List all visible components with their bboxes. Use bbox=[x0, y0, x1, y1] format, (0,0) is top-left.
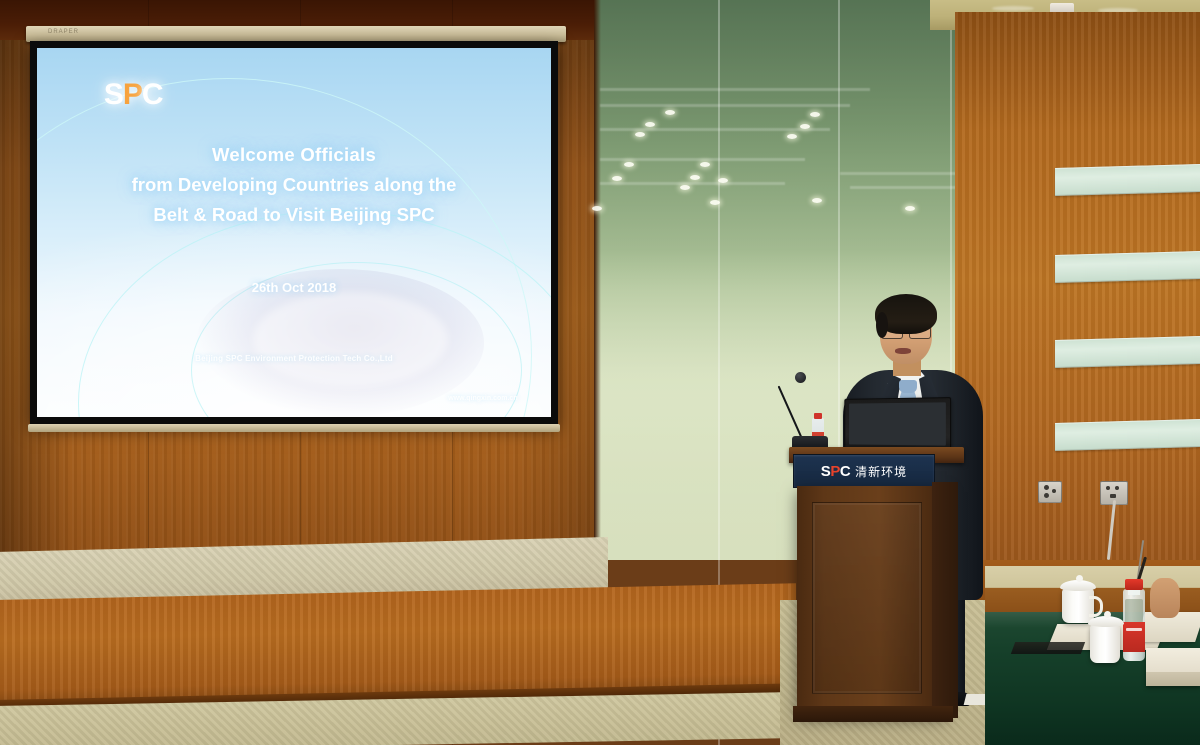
nameplate-spc-logo: SPC bbox=[821, 463, 850, 480]
ceiling-light-reflection bbox=[787, 134, 797, 139]
conference-room-photo: DRAPER SPC Welcome Officials from Develo… bbox=[0, 0, 1200, 745]
ceiling-light-reflection bbox=[635, 132, 645, 137]
slide-spc-logo: SPC bbox=[104, 78, 163, 112]
teacup-front bbox=[1090, 625, 1120, 663]
glass-edge-shadow bbox=[594, 0, 601, 560]
slide-date: 26th Oct 2018 bbox=[37, 280, 551, 295]
podium-base bbox=[793, 706, 953, 722]
ceiling-reflection bbox=[600, 128, 830, 131]
logo-letter-p: P bbox=[123, 78, 142, 111]
name-card-fold bbox=[1146, 672, 1200, 686]
wall-glass-panel bbox=[1055, 164, 1200, 196]
projector-screen-weight-bar bbox=[28, 424, 560, 432]
podium-front-panel bbox=[812, 502, 922, 694]
ceiling-light-reflection bbox=[800, 124, 810, 129]
projection-screen: SPC Welcome Officials from Developing Co… bbox=[30, 41, 558, 424]
wall-glass-panel bbox=[1055, 336, 1200, 368]
ceiling-reflection bbox=[600, 104, 850, 107]
slide-title: Welcome Officials from Developing Countr… bbox=[37, 140, 551, 230]
power-outlet-left[interactable] bbox=[1038, 481, 1062, 503]
nameplate-letter-s: S bbox=[821, 463, 831, 480]
ceiling-light-reflection bbox=[700, 162, 710, 167]
ceiling-light-reflection bbox=[645, 122, 655, 127]
podium-nameplate: SPC 清新环境 bbox=[793, 454, 935, 488]
slide-title-line-1: Welcome Officials bbox=[37, 140, 551, 170]
slide-website-url: www.qingxin.com.cn bbox=[448, 395, 517, 402]
speaker-hair bbox=[875, 294, 937, 334]
ceiling-light-reflection bbox=[710, 200, 720, 205]
ceiling-light-reflection bbox=[905, 206, 915, 211]
wall-glass-panel bbox=[1055, 251, 1200, 283]
ceiling-reflection bbox=[600, 182, 785, 185]
table-dark-object bbox=[1011, 642, 1085, 654]
projector-screen-casing[interactable]: DRAPER bbox=[26, 26, 566, 42]
ceiling-light-reflection bbox=[624, 162, 634, 167]
ceiling-light-reflection bbox=[810, 112, 820, 117]
presentation-slide: SPC Welcome Officials from Developing Co… bbox=[37, 48, 551, 417]
teacup-lid-knob bbox=[1104, 611, 1111, 618]
speaker-mouth bbox=[895, 348, 911, 354]
teacup-lid-knob bbox=[1076, 575, 1083, 582]
teacup-back bbox=[1062, 589, 1094, 623]
microphone-icon bbox=[795, 372, 806, 383]
nameplate-letter-c: C bbox=[840, 463, 850, 480]
logo-letter-s: S bbox=[104, 78, 123, 111]
bottle-cap bbox=[1125, 579, 1143, 590]
ceiling-reflection bbox=[850, 186, 960, 189]
bottle-label bbox=[1123, 622, 1145, 652]
ceiling-light bbox=[992, 6, 1034, 11]
bottle-contents bbox=[1125, 599, 1143, 623]
ceiling-light-reflection bbox=[592, 206, 602, 211]
logo-letter-c: C bbox=[142, 78, 163, 111]
table-name-card bbox=[1146, 648, 1200, 686]
ceiling-light-reflection bbox=[680, 185, 690, 190]
ceiling-light-reflection bbox=[612, 176, 622, 181]
laptop-computer[interactable] bbox=[844, 397, 951, 453]
attendee-hand bbox=[1150, 578, 1180, 618]
slide-title-line-2: from Developing Countries along the bbox=[37, 170, 551, 200]
slide-decorative-blob bbox=[253, 292, 448, 388]
nameplate-letter-p: P bbox=[830, 463, 840, 480]
wall-glass-panel bbox=[1055, 419, 1200, 451]
ceiling-light-reflection bbox=[690, 175, 700, 180]
ceiling-reflection bbox=[600, 158, 805, 161]
speaker-tie-knot bbox=[899, 380, 917, 393]
screen-brand-label: DRAPER bbox=[48, 29, 79, 35]
slide-company-name: Beijing SPC Environment Protection Tech … bbox=[37, 354, 551, 363]
ceiling-light-reflection bbox=[718, 178, 728, 183]
podium-side-face bbox=[932, 482, 958, 718]
ceiling-light-reflection bbox=[665, 110, 675, 115]
slide-title-line-3: Belt & Road to Visit Beijing SPC bbox=[37, 200, 551, 230]
table-water-bottle bbox=[1123, 589, 1145, 661]
ceiling-reflection bbox=[600, 88, 870, 91]
nameplate-chinese-text: 清新环境 bbox=[855, 463, 907, 480]
ceiling-reflection bbox=[840, 172, 960, 175]
ceiling-light-reflection bbox=[812, 198, 822, 203]
